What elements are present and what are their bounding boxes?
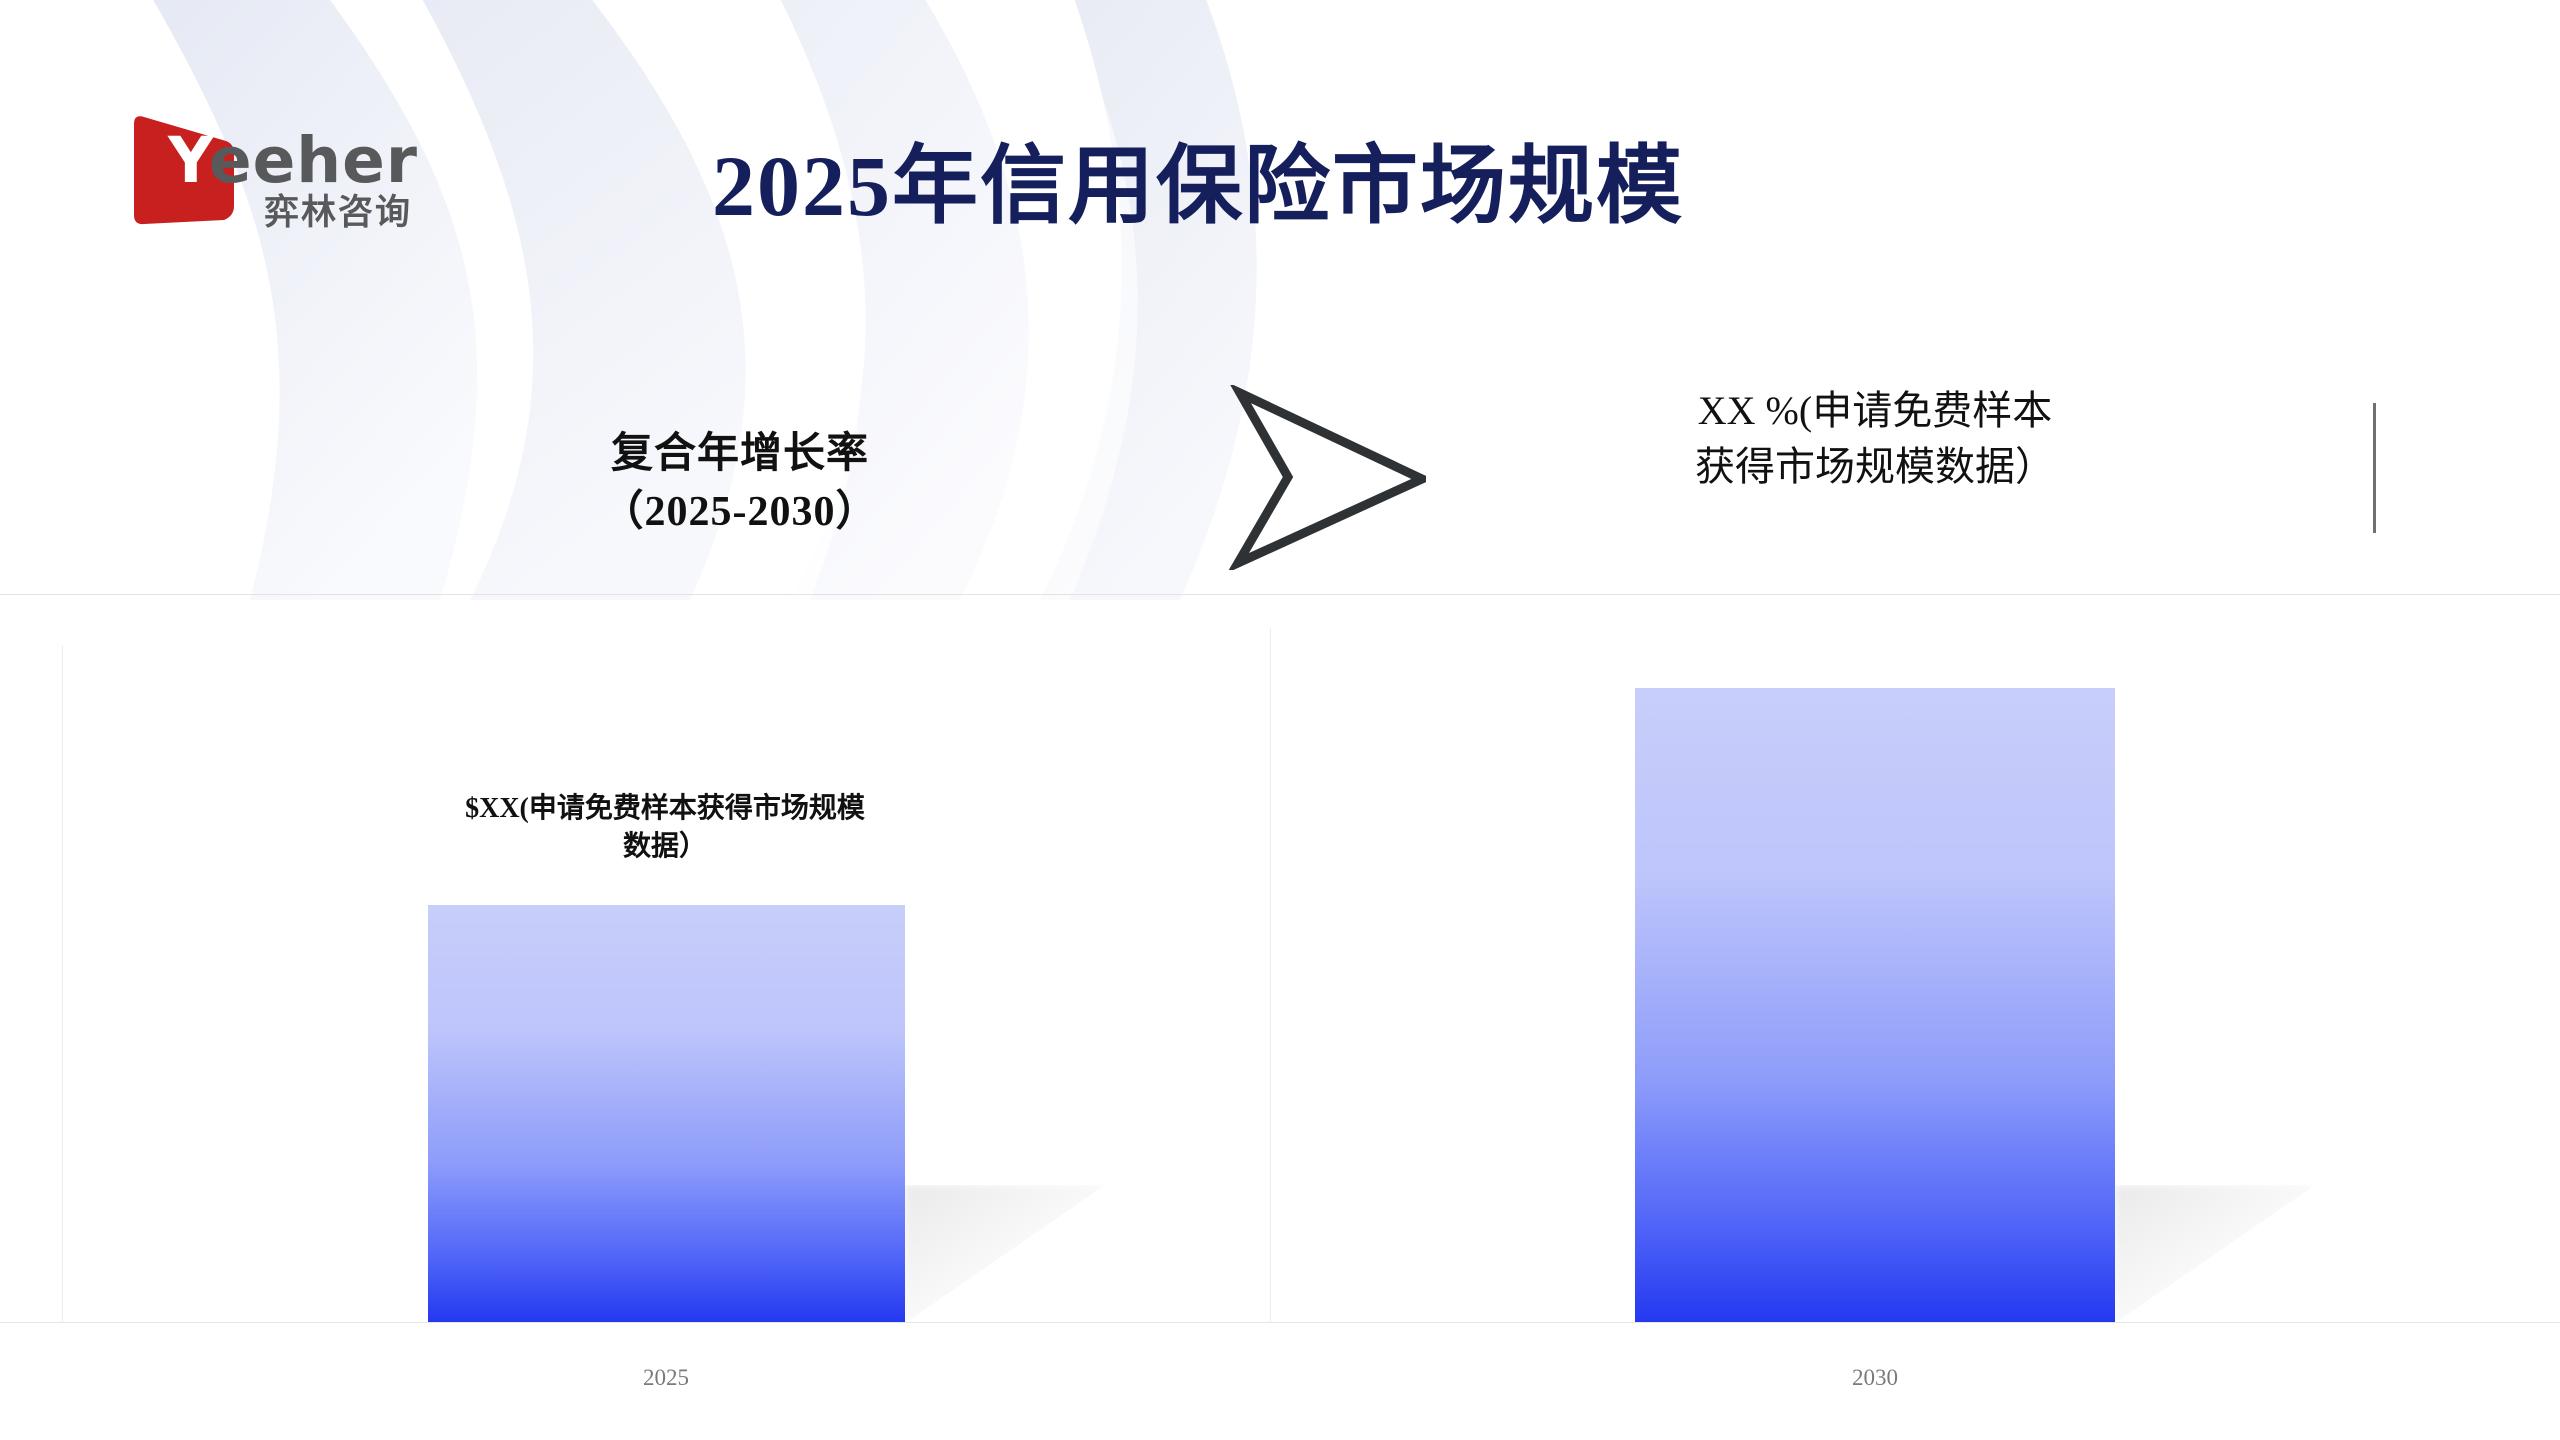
cagr-value-line1: XX %(申请免费样本 [1625, 383, 2125, 439]
bar-value-label-2025: $XX(申请免费样本获得市场规模数据） [455, 790, 875, 866]
bar-2025 [428, 905, 905, 1322]
cagr-value-line2: 获得市场规模数据） [1625, 439, 2125, 495]
vertical-rule [2373, 403, 2376, 533]
chart-panel-middle-border [1270, 628, 1271, 1323]
logo-subtitle: 弈林咨询 [264, 194, 412, 232]
cagr-value-callout: XX %(申请免费样本 获得市场规模数据） [1625, 383, 2125, 495]
brand-logo: Yeeher 弈林咨询 [128, 110, 468, 230]
chart-panel-left-border [62, 645, 63, 1323]
axis-tick-2030: 2030 [1775, 1363, 1975, 1393]
logo-wordmark-rest: eeher [209, 124, 418, 197]
arrow-right-outline-icon [1226, 385, 1426, 570]
cagr-label-line2: （2025-2030） [550, 483, 930, 541]
chart-top-divider [0, 594, 2560, 595]
logo-lead-letter: Y [168, 124, 209, 197]
bar-shadow-2030 [2115, 1185, 2315, 1323]
page-title: 2025年信用保险市场规模 [712, 136, 1684, 236]
chart-baseline-axis [0, 1322, 2560, 1323]
bar-2030 [1635, 688, 2115, 1322]
axis-tick-2025: 2025 [566, 1363, 766, 1393]
cagr-label: 复合年增长率 （2025-2030） [550, 425, 930, 541]
bar-shadow-2025 [905, 1185, 1105, 1323]
logo-wordmark: Yeeher [168, 128, 468, 194]
slide-canvas: Yeeher 弈林咨询 2025年信用保险市场规模 复合年增长率 （2025-2… [0, 0, 2560, 1440]
cagr-label-line1: 复合年增长率 [550, 425, 930, 483]
